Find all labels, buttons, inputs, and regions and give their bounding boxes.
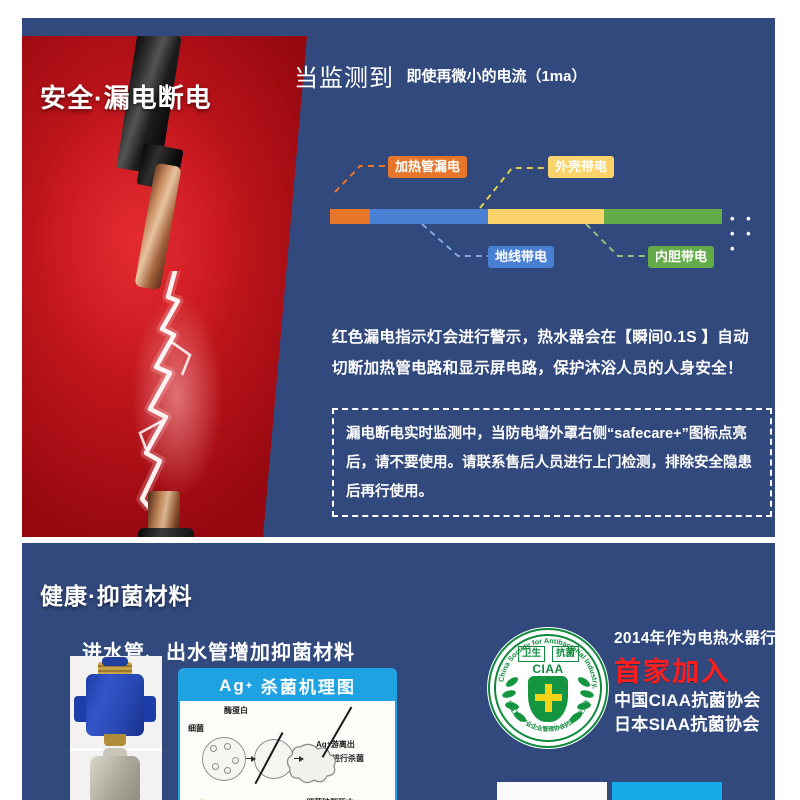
page-root: 安全·漏电断电 当监测到 即使再微小的电流（1ma） • • • • • 加热管… <box>0 0 800 800</box>
valve-grey-icon <box>90 756 140 800</box>
monitor-question: 当监测到 即使再微小的电流（1ma） <box>294 58 586 93</box>
valve-outlet-icon <box>104 734 126 746</box>
badge-emblem: 卫生 抗菌 CIAA <box>508 646 588 730</box>
diagram-label-shell: 外壳带电 <box>548 156 614 178</box>
safety-paragraph: 红色漏电指示灯会进行警示，热水器会在【瞬间0.1S 】自动切断加热管电路和显示屏… <box>332 322 762 384</box>
valve-body-icon <box>86 674 144 736</box>
monitor-question-main: 当监测到 <box>294 65 394 92</box>
health-heading: 健康·抑菌材料 <box>40 577 193 611</box>
ag-burst-icon <box>180 701 395 800</box>
ag-card-diagram: 细菌 酶蛋白 Ag⁺游离出 重复进行杀菌 细菌破裂死亡 <box>180 701 395 800</box>
diagram-label-liner: 内胆带电 <box>648 246 714 268</box>
ag-mechanism-card: Ag+ 杀菌机理图 细菌 酶蛋白 Ag⁺游离出 重复进行杀菌 细菌破裂死亡 <box>178 668 397 800</box>
ciaa-text-block: 2014年作为电热水器行业 首家加入 中国CIAA抗菌协会 日本SIAA抗菌协会 <box>614 626 800 737</box>
ag-symbol: Ag <box>219 676 246 696</box>
bottom-blue-card <box>612 782 722 800</box>
bar-ellipsis: • • • • • <box>730 211 760 256</box>
valve-photo <box>70 656 162 800</box>
ag-charge: + <box>246 680 254 692</box>
valve-cap-icon <box>102 657 128 666</box>
ag-card-title: Ag+ 杀菌机理图 <box>180 670 395 701</box>
ag-title-rest: 杀菌机理图 <box>261 673 356 698</box>
ciaa-line-2-highlight: 首家加入 <box>614 650 800 689</box>
monitor-question-sub: 即使再微小的电流（1ma） <box>406 68 586 85</box>
ag-arrow-1 <box>246 758 255 759</box>
safety-warning-note: 漏电断电实时监测中，当防电墙外罩右侧“safecare+”图标点亮后，请不要使用… <box>332 408 772 517</box>
badge-tag-hygiene: 卫生 <box>518 646 545 662</box>
safety-section: 安全·漏电断电 当监测到 即使再微小的电流（1ma） • • • • • 加热管… <box>22 18 775 537</box>
bar-segment <box>604 209 722 224</box>
bar-segment <box>370 209 488 224</box>
bottom-white-card <box>497 782 607 800</box>
safety-heading: 安全·漏电断电 <box>40 78 212 115</box>
cross-horizontal <box>535 694 562 701</box>
diagram-label-heater: 加热管漏电 <box>388 156 467 178</box>
shield-icon <box>528 676 568 722</box>
ciaa-line-4: 日本SIAA抗菌协会 <box>614 713 800 737</box>
bar-segment <box>488 209 604 224</box>
lightning-bolt-icon <box>82 271 262 511</box>
ciaa-line-3: 中国CIAA抗菌协会 <box>614 689 800 713</box>
ag-arrow-2 <box>294 758 303 759</box>
ciaa-line-1: 2014年作为电热水器行业 <box>614 626 800 648</box>
section-top-band <box>22 18 775 36</box>
badge-tag-antibacterial: 抗菌 <box>552 646 579 662</box>
leakage-bar <box>330 209 722 224</box>
diagram-label-ground: 地线带电 <box>488 246 554 268</box>
cable-end-cap-icon <box>138 528 194 537</box>
leakage-diagram: • • • • • 加热管漏电 外壳带电 地线带电 内胆带电 <box>330 128 760 288</box>
bar-segment <box>330 209 370 224</box>
ciaa-badge: China Society for Antibacterial Industry… <box>488 628 608 748</box>
